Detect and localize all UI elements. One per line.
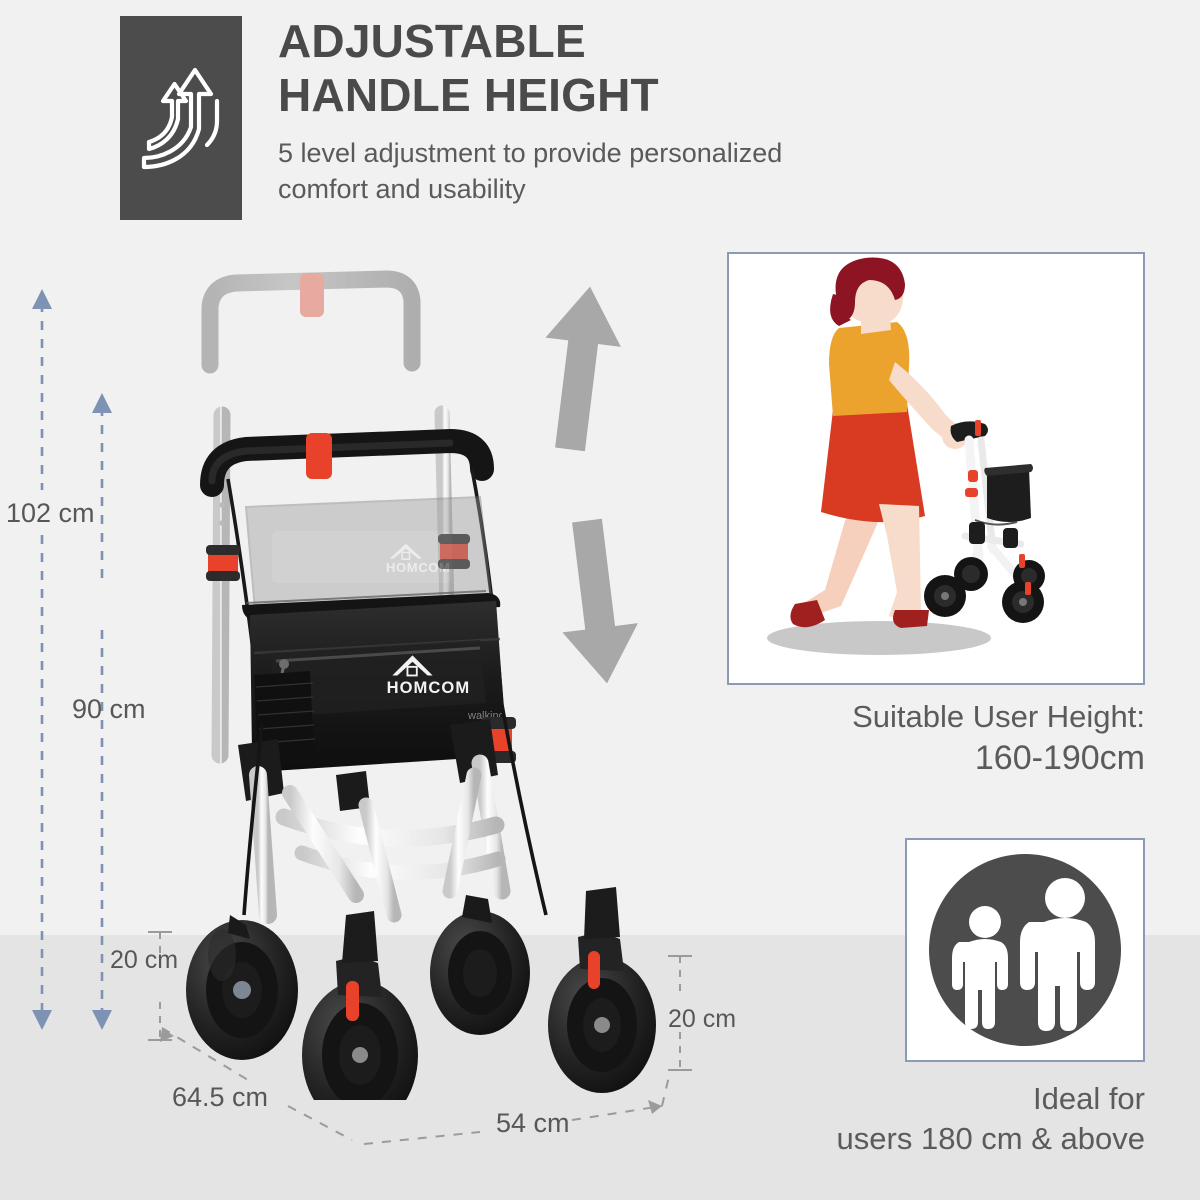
- user-illustration-panel: [727, 252, 1145, 685]
- ideal-for-caption: Ideal for users 180 cm & above: [660, 1079, 1145, 1158]
- dimension-label-height-min: 90 cm: [72, 694, 146, 725]
- subtitle-line-2: comfort and usability: [278, 172, 978, 208]
- svg-text:HOMCOM: HOMCOM: [387, 678, 471, 697]
- wheel-rear-right: [430, 895, 530, 1035]
- infographic-page: ADJUSTABLE HANDLE HEIGHT 5 level adjustm…: [0, 0, 1200, 1200]
- dimension-label-width: 54 cm: [496, 1108, 570, 1139]
- title-line-1: ADJUSTABLE: [278, 14, 898, 68]
- rollator-in-illustration: [924, 420, 1045, 623]
- dimension-label-depth: 64.5 cm: [172, 1082, 268, 1113]
- suitable-user-height-label: Suitable User Height:: [705, 697, 1145, 737]
- ideal-for-line-2: users 180 cm & above: [660, 1119, 1145, 1159]
- shoe-front: [893, 610, 929, 628]
- ideal-user-icon-panel: [905, 838, 1145, 1062]
- skirt: [821, 404, 925, 522]
- dimension-label-wheel-left: 20 cm: [110, 946, 178, 975]
- suitable-user-height-value: 160-190cm: [705, 737, 1145, 781]
- woman-walking-with-rollator-icon: [729, 254, 1143, 683]
- svg-text:HOMCOM: HOMCOM: [386, 560, 450, 575]
- suitable-user-height-caption: Suitable User Height: 160-190cm: [705, 697, 1145, 780]
- ideal-for-line-1: Ideal for: [660, 1079, 1145, 1119]
- rising-arrows-icon: [133, 59, 229, 177]
- page-subtitle: 5 level adjustment to provide personaliz…: [278, 136, 978, 207]
- title-line-2: HANDLE HEIGHT: [278, 68, 898, 122]
- arrow-down-icon: [549, 516, 644, 688]
- two-people-height-icon: [907, 840, 1143, 1060]
- vertical-dimension-lines: [20, 285, 150, 1045]
- page-title: ADJUSTABLE HANDLE HEIGHT: [278, 14, 898, 123]
- arrow-up-icon: [532, 282, 627, 454]
- subtitle-line-1: 5 level adjustment to provide personaliz…: [278, 136, 978, 172]
- height-adjust-arrows: [520, 280, 670, 700]
- dimension-label-height-max: 102 cm: [6, 498, 95, 529]
- red-clamp: [306, 433, 332, 479]
- header-icon-badge: [120, 16, 242, 220]
